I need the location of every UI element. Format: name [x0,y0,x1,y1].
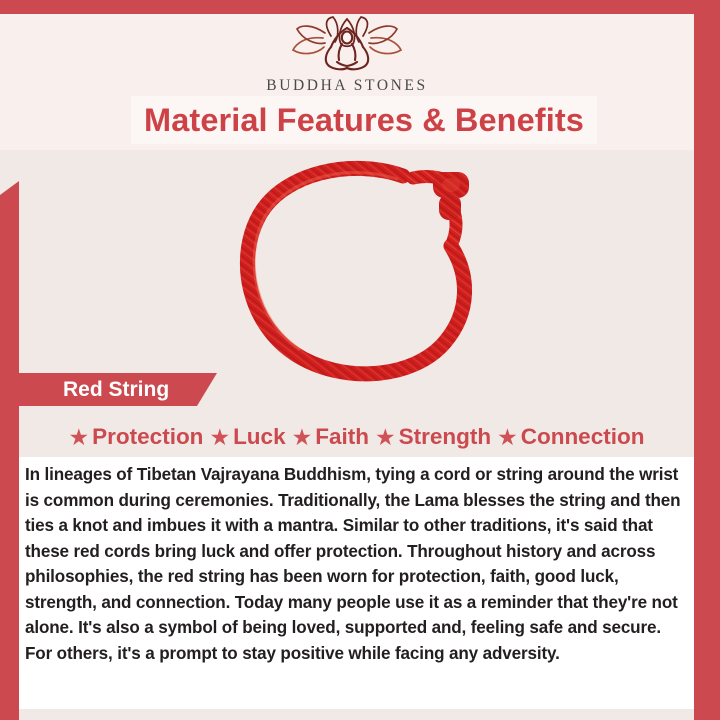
red-braided-cord-bracelet-image [237,154,499,388]
benefit-label: Luck [233,424,286,450]
star-icon: ★ [292,426,313,449]
lotus-meditation-figure-icon [291,16,403,74]
benefit-label: Strength [399,424,492,450]
brand-logo: BUDDHA STONES [0,16,694,95]
benefit-item-protection: ★ Protection [69,424,204,450]
brand-name: BUDDHA STONES [266,77,427,95]
benefit-label: Faith [315,424,369,450]
star-icon: ★ [497,426,518,449]
benefit-item-faith: ★ Faith [292,424,369,450]
star-icon: ★ [375,426,396,449]
product-name-banner: Red String [19,373,217,406]
description-text: In lineages of Tibetan Vajrayana Buddhis… [25,462,686,666]
star-icon: ★ [209,426,230,449]
title-banner: Material Features & Benefits [131,96,597,144]
benefit-item-strength: ★ Strength [375,424,491,450]
product-infographic: BUDDHA STONES Material Features & Benefi… [0,0,720,720]
star-icon: ★ [69,426,90,449]
top-accent-band [0,0,720,14]
product-image-area [19,152,694,370]
benefits-list: ★ Protection ★ Luck ★ Faith ★ Strength ★… [19,418,694,456]
product-name-label: Red String [63,378,169,402]
right-accent-band [694,0,720,720]
left-accent-band [0,181,19,720]
benefit-label: Protection [92,424,203,450]
benefit-item-connection: ★ Connection [497,424,644,450]
description-block: In lineages of Tibetan Vajrayana Buddhis… [19,457,694,709]
benefit-item-luck: ★ Luck [209,424,285,450]
benefit-label: Connection [521,424,645,450]
page-title: Material Features & Benefits [144,102,584,139]
